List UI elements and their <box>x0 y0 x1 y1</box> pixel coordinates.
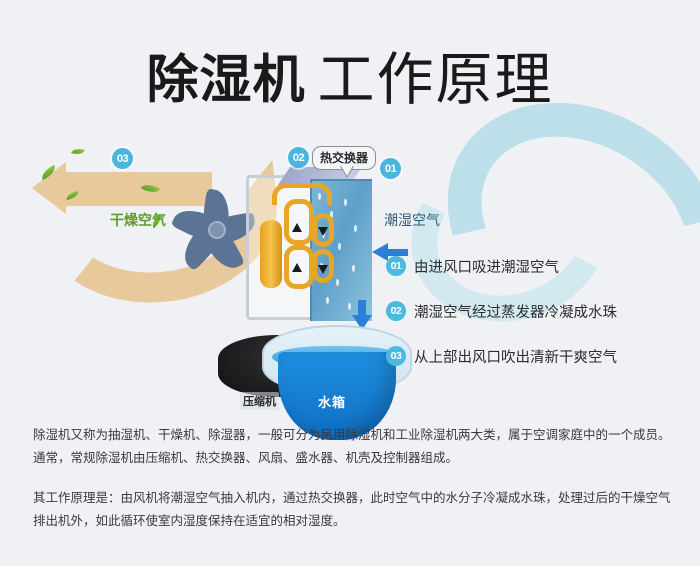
refrigerant-pipe <box>272 183 332 205</box>
page-title-secondary: 工作原理 <box>318 48 554 112</box>
paragraph-1: 除湿机又称为抽湿机、干燥机、除湿器，一般可分为民用除湿机和工业除湿机两大类，属于… <box>33 424 673 470</box>
compressor-cylinder <box>260 220 282 288</box>
step-badge-03: 03 <box>386 346 406 366</box>
description-text: 除湿机又称为抽湿机、干燥机、除湿器，一般可分为民用除湿机和工业除湿机两大类，属于… <box>33 424 673 533</box>
step-text-01: 由进风口吸进潮湿空气 <box>414 256 559 277</box>
step-badge-01: 01 <box>386 256 406 276</box>
dry-air-label: 干燥空气 <box>110 210 166 230</box>
water-tank-label: 水箱 <box>318 392 346 411</box>
badge-03-diagram: 03 <box>112 148 133 169</box>
compressor-label: 压缩机 <box>240 392 279 410</box>
list-item: 03 从上部出风口吹出清新干爽空气 <box>386 345 686 367</box>
page-title-primary: 除湿机 <box>146 52 305 110</box>
flow-arrow-up-icon <box>292 223 302 232</box>
badge-02-diagram: 02 <box>288 147 309 168</box>
flow-arrow-down-icon <box>318 227 328 236</box>
list-item: 01 由进风口吸进潮湿空气 <box>386 255 686 277</box>
paragraph-2: 其工作原理是：由风机将潮湿空气抽入机内，通过热交换器，此时空气中的水分子冷凝成水… <box>33 487 673 533</box>
refrigerant-loop <box>284 199 314 245</box>
step-text-02: 潮湿空气经过蒸发器冷凝成水珠 <box>414 301 617 322</box>
callout-pointer-icon <box>340 164 354 176</box>
flow-arrow-down-icon <box>318 265 328 274</box>
flow-arrow-up-icon <box>292 263 302 272</box>
humid-air-label: 潮湿空气 <box>384 210 440 230</box>
badge-01-diagram: 01 <box>380 158 401 179</box>
step-text-03: 从上部出风口吹出清新干爽空气 <box>414 346 617 367</box>
step-badge-02: 02 <box>386 301 406 321</box>
list-item: 02 潮湿空气经过蒸发器冷凝成水珠 <box>386 300 686 322</box>
leaf-icon <box>71 146 85 156</box>
page-title: 除湿机工作原理 <box>0 34 700 116</box>
principle-step-list: 01 由进风口吸进潮湿空气 02 潮湿空气经过蒸发器冷凝成水珠 03 从上部出风… <box>386 255 686 390</box>
